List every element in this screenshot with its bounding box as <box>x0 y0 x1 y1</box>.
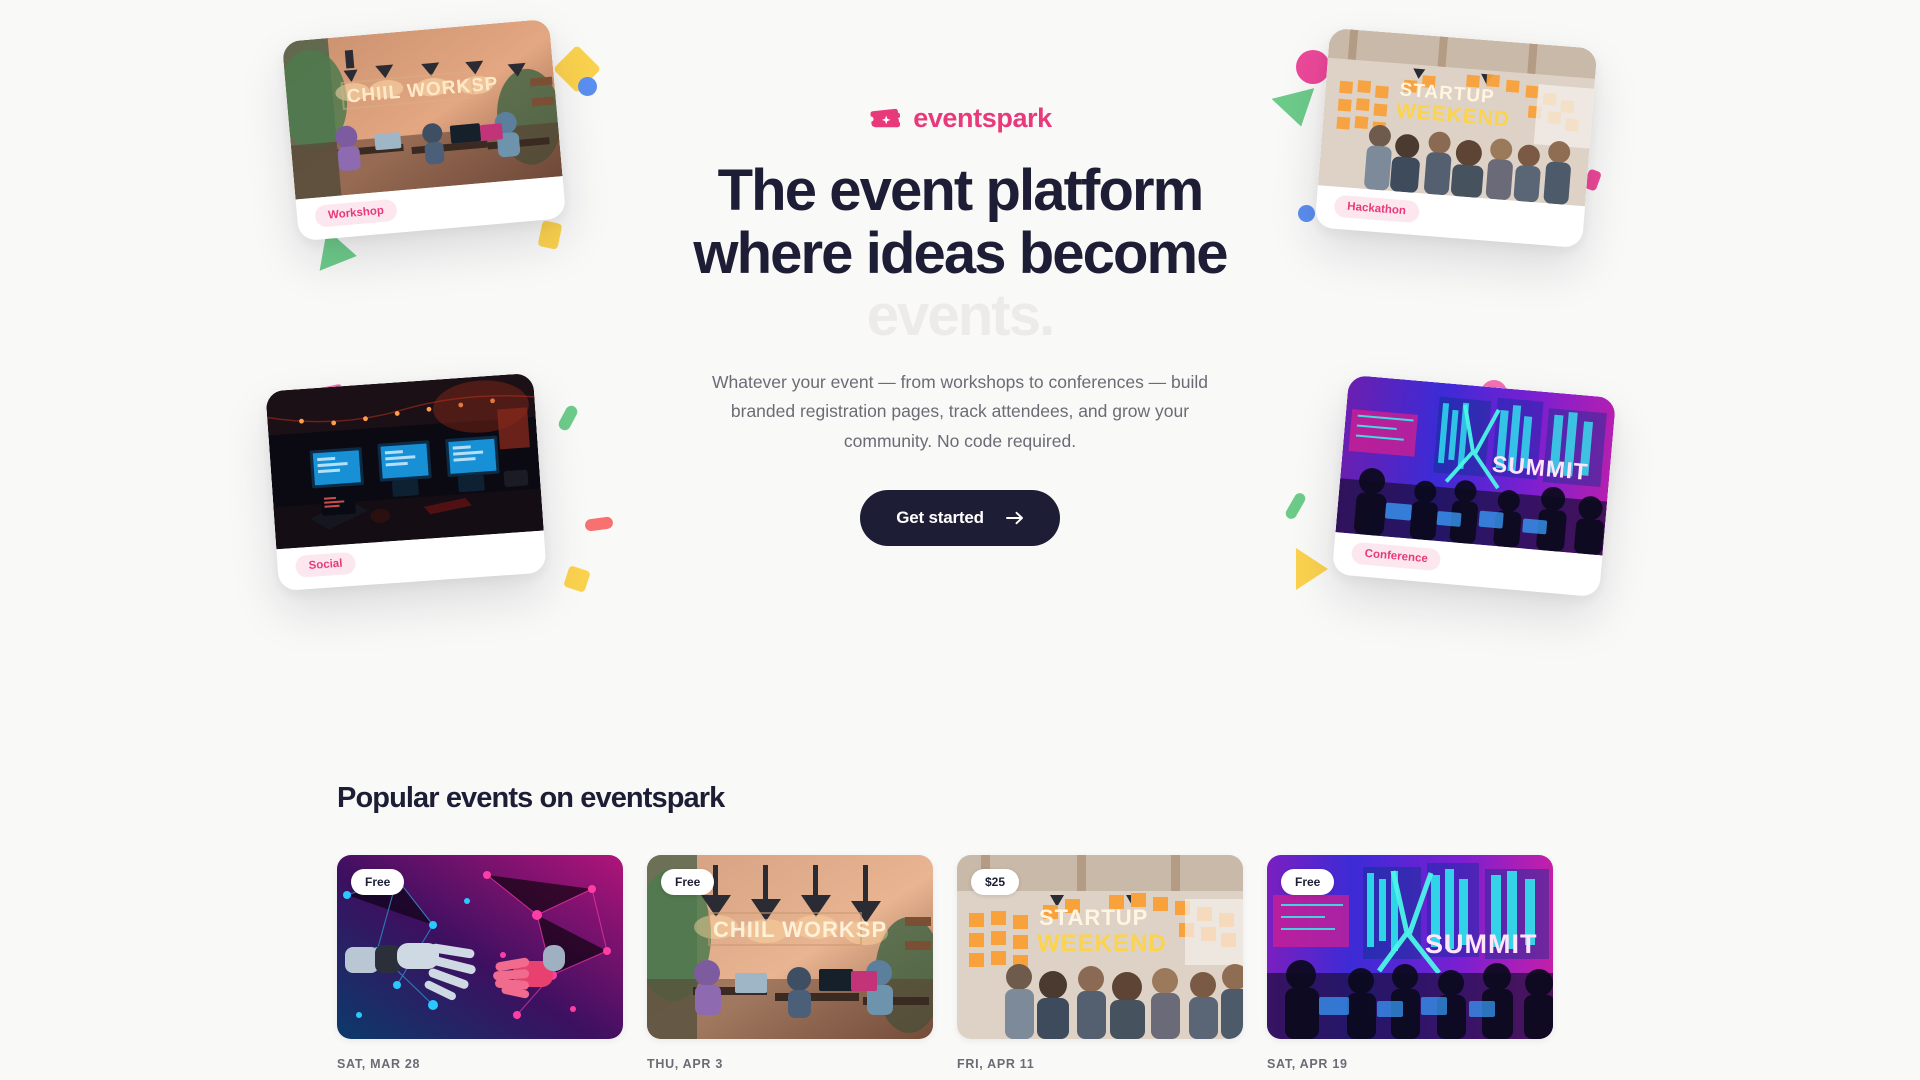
event-date: THU, APR 3 <box>647 1057 933 1071</box>
get-started-button[interactable]: Get started <box>860 490 1060 546</box>
event-card[interactable]: CHIIL WORKSP Free <box>647 855 933 1080</box>
svg-text:WEEKEND: WEEKEND <box>1037 930 1167 957</box>
hero-subhead: Whatever your event — from workshops to … <box>700 368 1220 456</box>
floating-card-conference[interactable]: SUMMIT Conference <box>1332 375 1616 598</box>
event-thumbnail[interactable]: SUMMIT <box>1267 855 1553 1039</box>
floating-card-social[interactable]: Social <box>265 373 546 591</box>
event-date: SAT, APR 19 <box>1267 1057 1553 1071</box>
floating-card-pill: Conference <box>1351 542 1442 572</box>
arrow-right-icon <box>1006 511 1024 525</box>
headline-line-2: where ideas become <box>0 223 1920 286</box>
cta-container: Get started <box>0 490 1920 546</box>
hero-section: CHIIL WORKSP Workshop <box>0 0 1920 740</box>
decor-square-yellow-3 <box>563 565 591 593</box>
event-price-badge: Free <box>661 869 714 895</box>
popular-events-section: Popular events on eventspark <box>0 740 1920 1080</box>
event-card[interactable]: Free SAT, MAR 28 AI hackathon <box>337 855 623 1080</box>
headline-line-1: The event platform <box>0 160 1920 223</box>
event-thumbnail[interactable]: CHIIL WORKSP Free <box>647 855 933 1039</box>
brand-logo[interactable]: eventspark <box>0 103 1920 134</box>
event-thumbnail[interactable]: Free <box>337 855 623 1039</box>
section-title: Popular events on eventspark <box>337 782 1920 815</box>
page-root: CHIIL WORKSP Workshop <box>0 0 1920 1080</box>
svg-text:SUMMIT: SUMMIT <box>1425 929 1537 959</box>
event-price-badge: Free <box>351 869 404 895</box>
events-grid: Free SAT, MAR 28 AI hackathon <box>337 855 1920 1080</box>
page-title: The event platform where ideas become ev… <box>0 160 1920 348</box>
get-started-label: Get started <box>896 508 984 528</box>
event-thumbnail[interactable]: STARTUP WEEKEND $25 <box>957 855 1243 1039</box>
event-card[interactable]: STARTUP WEEKEND $25 <box>957 855 1243 1080</box>
event-date: FRI, APR 11 <box>957 1057 1243 1071</box>
event-price-badge: Free <box>1281 869 1334 895</box>
decor-dot-pink-2 <box>1296 50 1330 84</box>
brand-name: eventspark <box>913 103 1052 134</box>
event-card[interactable]: SUMMIT <box>1267 855 1553 1080</box>
decor-dot-blue-1 <box>578 77 597 96</box>
decor-triangle-yellow-4 <box>1296 548 1328 590</box>
decor-square-yellow-1 <box>553 45 601 93</box>
svg-text:STARTUP: STARTUP <box>1039 905 1148 930</box>
headline-line-3: events. <box>0 285 1920 348</box>
floating-card-pill: Social <box>295 552 356 578</box>
event-date: SAT, MAR 28 <box>337 1057 623 1071</box>
svg-text:CHIIL WORKSP: CHIIL WORKSP <box>713 917 887 942</box>
event-price-badge: $25 <box>971 869 1019 895</box>
ticket-sparkle-icon <box>868 106 902 132</box>
decor-square-green-3 <box>557 404 580 433</box>
